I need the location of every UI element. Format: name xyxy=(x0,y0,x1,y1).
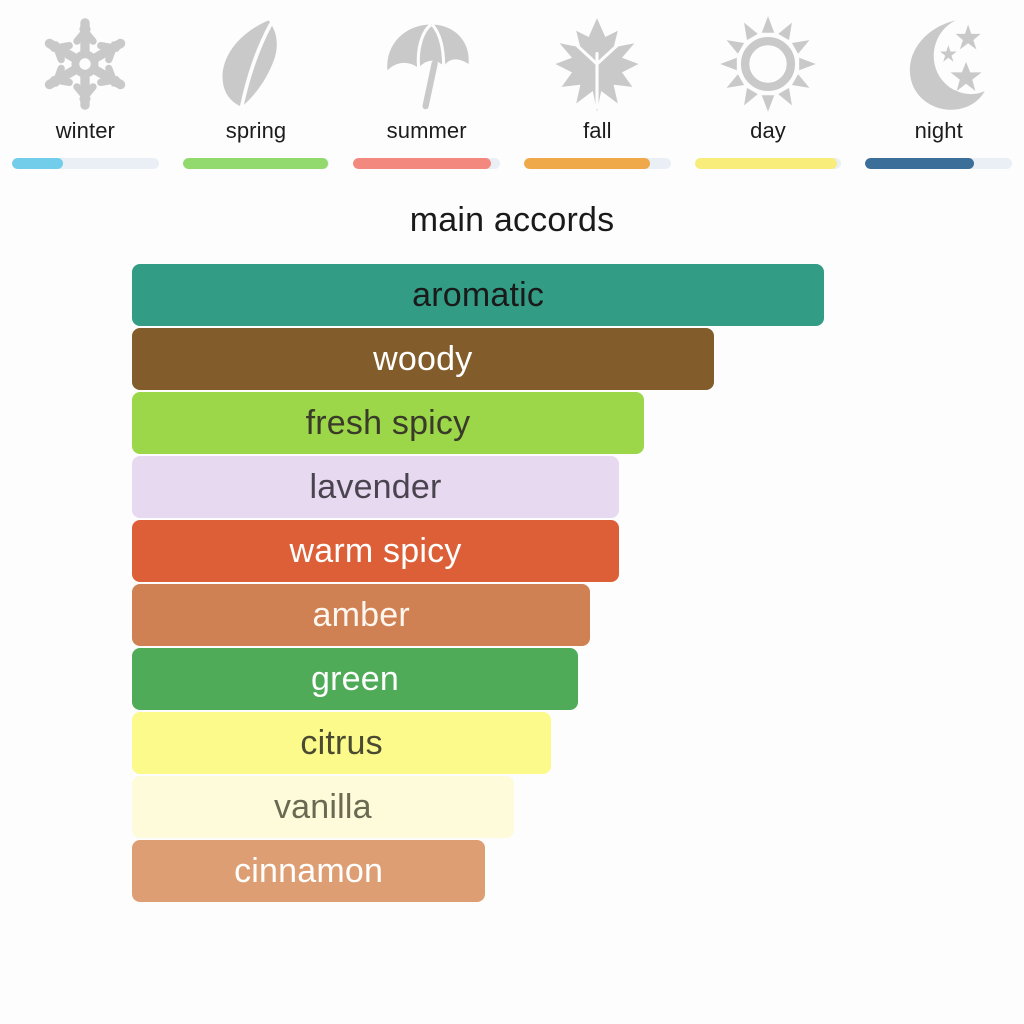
accord-bar-lavender[interactable]: lavender xyxy=(132,456,619,518)
accord-label: aromatic xyxy=(412,278,544,312)
accord-row: warm spicy xyxy=(132,520,1024,584)
accord-row: fresh spicy xyxy=(132,392,1024,456)
season-item-spring[interactable]: spring xyxy=(171,14,342,169)
sun-icon xyxy=(714,14,822,114)
leaf-icon xyxy=(202,14,310,114)
accord-bar-aromatic[interactable]: aromatic xyxy=(132,264,824,326)
season-rating-track[interactable] xyxy=(183,158,330,169)
accord-bar-amber[interactable]: amber xyxy=(132,584,590,646)
season-label: winter xyxy=(56,116,115,146)
accord-row: lavender xyxy=(132,456,1024,520)
season-rating-track[interactable] xyxy=(524,158,671,169)
page-title: main accords xyxy=(0,201,1024,240)
fragrance-profile-panel: winter spring xyxy=(0,0,1024,1024)
accord-row: woody xyxy=(132,328,1024,392)
season-rating-track[interactable] xyxy=(865,158,1012,169)
accord-label: vanilla xyxy=(274,790,372,824)
accord-bar-fresh-spicy[interactable]: fresh spicy xyxy=(132,392,644,454)
season-rating-fill xyxy=(865,158,974,169)
season-rating-fill xyxy=(524,158,650,169)
season-rating-fill xyxy=(183,158,328,169)
accord-row: green xyxy=(132,648,1024,712)
season-rating-track[interactable] xyxy=(12,158,159,169)
accord-row: aromatic xyxy=(132,264,1024,328)
maple-leaf-icon xyxy=(543,14,651,114)
season-label: fall xyxy=(583,116,612,146)
accord-bar-vanilla[interactable]: vanilla xyxy=(132,776,514,838)
accord-label: fresh spicy xyxy=(306,406,471,440)
accord-label: cinnamon xyxy=(234,854,383,888)
season-label: spring xyxy=(226,116,287,146)
accord-bar-citrus[interactable]: citrus xyxy=(132,712,551,774)
season-rating-fill xyxy=(695,158,837,169)
season-rating-fill xyxy=(353,158,491,169)
accord-row: citrus xyxy=(132,712,1024,776)
accord-row: vanilla xyxy=(132,776,1024,840)
beach-umbrella-icon xyxy=(373,14,481,114)
snowflake-icon xyxy=(31,14,139,114)
accord-label: green xyxy=(311,662,399,696)
accord-bar-cinnamon[interactable]: cinnamon xyxy=(132,840,485,902)
accord-bar-woody[interactable]: woody xyxy=(132,328,714,390)
season-item-fall[interactable]: fall xyxy=(512,14,683,169)
accord-bar-warm-spicy[interactable]: warm spicy xyxy=(132,520,619,582)
main-accords-chart: aromatic woody fresh spicy lavender warm… xyxy=(0,264,1024,904)
accord-label: lavender xyxy=(310,470,442,504)
season-item-summer[interactable]: summer xyxy=(341,14,512,169)
season-item-winter[interactable]: winter xyxy=(0,14,171,169)
accord-row: amber xyxy=(132,584,1024,648)
season-rating-track[interactable] xyxy=(695,158,842,169)
season-item-night[interactable]: night xyxy=(853,14,1024,169)
season-label: summer xyxy=(387,116,467,146)
seasons-strip: winter spring xyxy=(0,0,1024,169)
season-rating-track[interactable] xyxy=(353,158,500,169)
accord-label: woody xyxy=(373,342,472,376)
accord-bar-green[interactable]: green xyxy=(132,648,578,710)
accord-label: citrus xyxy=(300,726,382,760)
season-item-day[interactable]: day xyxy=(683,14,854,169)
season-label: night xyxy=(915,116,963,146)
season-label: day xyxy=(750,116,786,146)
season-rating-fill xyxy=(12,158,63,169)
accord-label: warm spicy xyxy=(290,534,462,568)
moon-stars-icon xyxy=(885,14,993,114)
accord-label: amber xyxy=(313,598,410,632)
accord-row: cinnamon xyxy=(132,840,1024,904)
